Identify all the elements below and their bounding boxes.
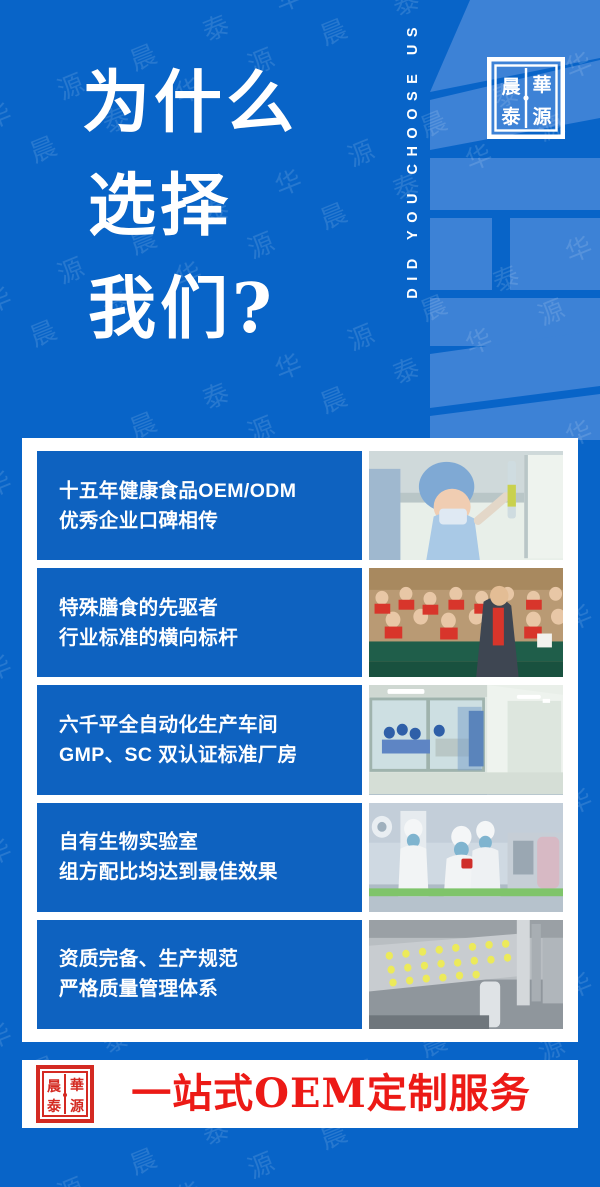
feature-text-card: 十五年健康食品OEM/ODM 优秀企业口碑相传 [37,451,362,560]
feature-photo-lab-technician [369,451,563,560]
feature-line: GMP、SC 双认证标准厂房 [59,740,362,770]
feature-row[interactable]: 资质完备、生产规范 严格质量管理体系 [37,920,563,1029]
feature-line: 六千平全自动化生产车间 [59,710,362,740]
feature-line: 资质完备、生产规范 [59,944,362,974]
feature-line: 行业标准的横向标杆 [59,623,362,653]
feature-line: 优秀企业口碑相传 [59,506,362,536]
cta-banner[interactable]: 晨 華 泰 源 一站式OEM定制服务 [22,1060,578,1128]
feature-line: 自有生物实验室 [59,827,362,857]
feature-text-card: 资质完备、生产规范 严格质量管理体系 [37,920,362,1029]
feature-list: 十五年健康食品OEM/ODM 优秀企业口碑相传 [37,451,563,1029]
brand-seal-logo: 晨 華 泰 源 [487,57,565,139]
feature-line: 严格质量管理体系 [59,974,362,1004]
vertical-tagline-text: DID YOU CHOOSE US [405,20,421,299]
svg-text:泰: 泰 [46,1098,62,1115]
svg-text:華: 華 [70,1077,84,1094]
feature-photo-biology-lab [369,803,563,912]
feature-line: 特殊膳食的先驱者 [59,593,362,623]
feature-text-card: 六千平全自动化生产车间 GMP、SC 双认证标准厂房 [37,685,362,794]
feature-text-card: 自有生物实验室 组方配比均达到最佳效果 [37,803,362,912]
svg-text:晨: 晨 [501,76,521,98]
vertical-tagline: DID YOU CHOOSE US [396,20,430,410]
svg-text:華: 華 [532,73,551,96]
cta-label: 一站式OEM定制服务 [94,1070,568,1118]
svg-text:晨: 晨 [47,1079,62,1095]
svg-text:源: 源 [532,105,551,128]
page-title-line-1: 为什么 [82,52,298,155]
feature-line: 组方配比均达到最佳效果 [59,857,362,887]
feature-line: 十五年健康食品OEM/ODM [59,476,362,506]
feature-row[interactable]: 自有生物实验室 组方配比均达到最佳效果 [37,803,563,912]
feature-photo-production-workshop [369,685,563,794]
svg-text:泰: 泰 [500,105,521,128]
feature-row[interactable]: 特殊膳食的先驱者 行业标准的横向标杆 [37,568,563,677]
feature-photo-conference-hall [369,568,563,677]
svg-text:源: 源 [70,1098,84,1115]
feature-panel: 十五年健康食品OEM/ODM 优秀企业口碑相传 [22,438,578,1042]
feature-row[interactable]: 六千平全自动化生产车间 GMP、SC 双认证标准厂房 [37,685,563,794]
feature-row[interactable]: 十五年健康食品OEM/ODM 优秀企业口碑相传 [37,451,563,560]
feature-photo-blister-packing [369,920,563,1029]
feature-text-card: 特殊膳食的先驱者 行业标准的横向标杆 [37,568,362,677]
page-title-line-2: 选择 [82,155,298,258]
page-title-line-3: 我们? [82,258,298,361]
cta-brand-seal: 晨 華 泰 源 [36,1065,94,1123]
page-title: 为什么 选择 我们? [82,52,298,361]
